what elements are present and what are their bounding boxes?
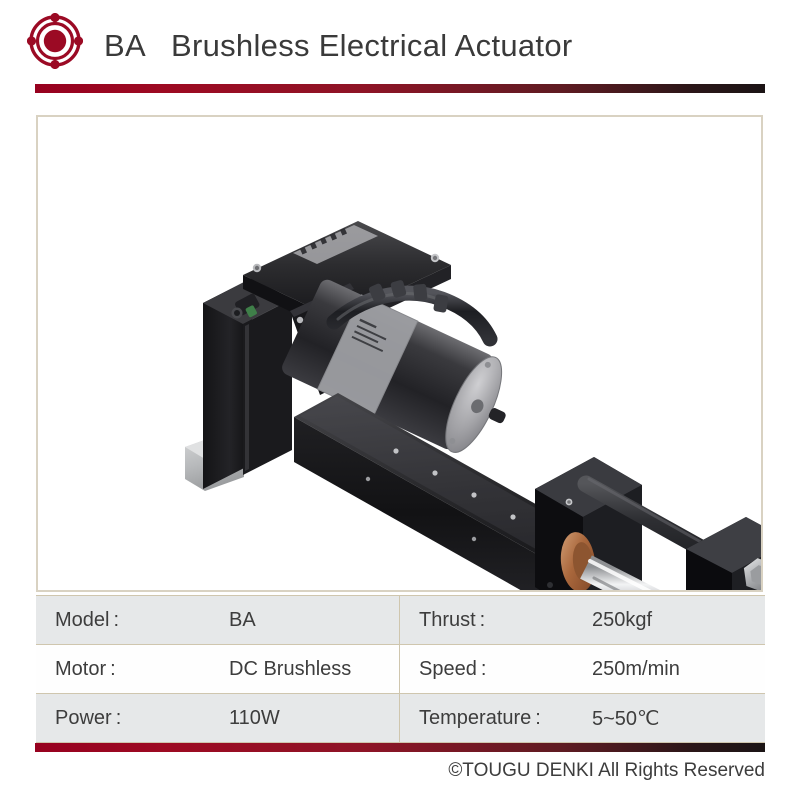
page-header: BA Brushless Electrical Actuator	[0, 0, 800, 80]
page-title: BA Brushless Electrical Actuator	[104, 26, 573, 66]
table-row: Model : BA Thrust : 250kgf	[36, 596, 765, 644]
spec-label: Model :	[36, 609, 119, 632]
specification-table: Model : BA Thrust : 250kgf Motor : DC Br…	[36, 596, 765, 742]
spec-value: 250kgf	[592, 609, 652, 632]
header-accent-rule	[35, 84, 765, 93]
spec-value: BA	[229, 609, 256, 632]
spec-label: Speed :	[400, 658, 486, 681]
product-photo	[38, 117, 761, 590]
table-row: Power : 110W Temperature : 5~50℃	[36, 694, 765, 742]
spec-cell-power: Power : 110W	[36, 694, 400, 742]
copyright-notice: ©TOUGU DENKI All Rights Reserved	[0, 760, 765, 782]
footer-accent-rule	[35, 743, 765, 752]
table-row: Motor : DC Brushless Speed : 250m/min	[36, 645, 765, 693]
spec-value: 250m/min	[592, 658, 680, 681]
spec-label: Thrust :	[400, 609, 485, 632]
spec-value: 5~50℃	[592, 706, 660, 731]
spec-label: Temperature :	[400, 707, 541, 730]
spec-cell-temperature: Temperature : 5~50℃	[400, 694, 765, 742]
product-image-frame	[36, 115, 763, 592]
spec-label: Motor :	[36, 658, 116, 681]
spec-value: DC Brushless	[229, 658, 351, 681]
spec-label: Power :	[36, 707, 121, 730]
spec-cell-model: Model : BA	[36, 596, 400, 644]
spec-cell-thrust: Thrust : 250kgf	[400, 596, 765, 644]
spec-value: 110W	[229, 707, 280, 730]
spec-cell-motor: Motor : DC Brushless	[36, 645, 400, 693]
spec-cell-speed: Speed : 250m/min	[400, 645, 765, 693]
tougu-target-logo	[27, 13, 83, 69]
